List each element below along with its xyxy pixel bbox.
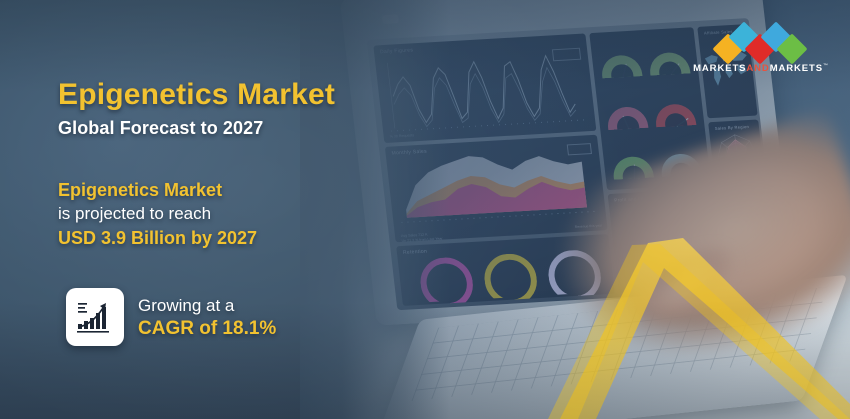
logo-trademark: ™ [823, 63, 829, 69]
logo-part1: MARKETS [693, 63, 746, 74]
growth-chart-glyph [75, 298, 115, 336]
claim-block: Epigenetics Market is projected to reach… [58, 178, 257, 250]
cagr-label: Growing at a [138, 294, 276, 317]
growth-chart-icon [66, 288, 124, 346]
claim-line-2: is projected to reach [58, 202, 257, 226]
claim-line-3: USD 3.9 Billion by 2027 [58, 226, 257, 250]
logo-part2: MARKETS [770, 63, 823, 74]
cagr-text: Growing at a CAGR of 18.1% [138, 294, 276, 340]
page-title: Epigenetics Market [58, 78, 335, 112]
page-subtitle: Global Forecast to 2027 [58, 118, 263, 139]
cagr-value: CAGR of 18.1% [138, 317, 276, 340]
logo-and: AND [746, 63, 769, 74]
marketsandmarkets-logo[interactable]: MARKETSANDMARKETS™ [686, 26, 836, 74]
logo-wordmark: MARKETSANDMARKETS™ [686, 63, 836, 74]
claim-line-1: Epigenetics Market [58, 178, 257, 202]
epigenetics-market-banner: Daily Figures % 30 Requests Monthly Sale… [0, 0, 850, 419]
cagr-block: Growing at a CAGR of 18.1% [66, 288, 276, 346]
